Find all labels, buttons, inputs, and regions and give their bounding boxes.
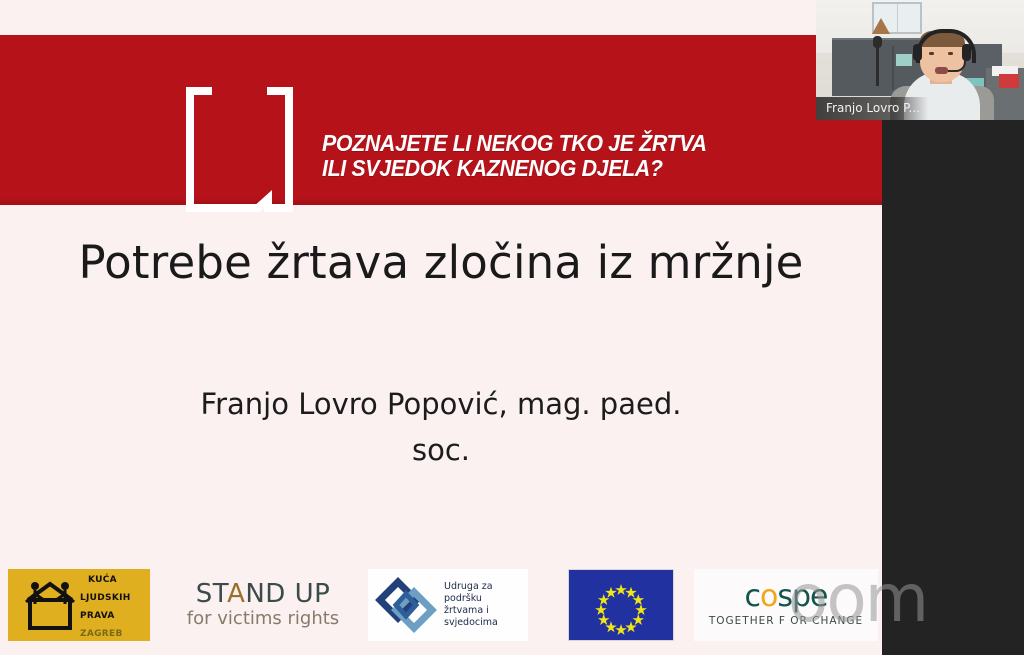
page-title: Potrebe žrtava zločina iz mržnje: [0, 236, 882, 289]
speech-bubble-bracket-icon: [182, 87, 297, 212]
presenter-credit: Franjo Lovro Popović, mag. paed. soc.: [0, 381, 882, 473]
participant-video-thumbnail[interactable]: Franjo Lovro P...: [816, 0, 1024, 120]
logo-kuca-city: ZAGREB: [80, 629, 123, 639]
desk-item-red: [999, 74, 1019, 88]
logo-european-union: [566, 569, 676, 641]
headset-earcup-left: [913, 44, 922, 61]
logo-udruga-za-podrsku: Udruga za podršku žrtvama i svjedocima: [368, 569, 528, 641]
logo-standup-wordmark: STAND UP: [196, 580, 331, 608]
logo-stand-up: STAND UP for victims rights: [178, 569, 348, 641]
desk-item-teal: [896, 54, 912, 66]
logo-cospe-accent-o: o: [760, 579, 777, 614]
logo-kuca-text: KUĆA LJUDSKIH PRAVA: [80, 575, 131, 621]
interlocking-rings-icon: [374, 576, 438, 634]
logo-standup-accent: A: [227, 579, 245, 609]
logo-standup-tagline: for victims rights: [187, 608, 339, 630]
zoom-meeting-window: POZNAJETE LI NEKOG TKO JE ŽRTVA ILI SVJE…: [0, 0, 1024, 655]
microphone-stand: [876, 44, 879, 86]
sponsor-logo-strip: KUĆA LJUDSKIH PRAVA ZAGREB STAND UP for …: [0, 569, 882, 647]
participant-name-label: Franjo Lovro P...: [816, 97, 928, 120]
logo-cospe-part1: c: [745, 579, 761, 614]
logo-standup-part1: ST: [196, 579, 227, 609]
logo-cospe-tagline: TOGETHER F OR CHANGE: [709, 613, 863, 629]
logo-cospe: cospe TOGETHER F OR CHANGE: [694, 569, 878, 641]
house-icon: [20, 578, 80, 632]
logo-kuca-ljudskih-prava: KUĆA LJUDSKIH PRAVA ZAGREB: [8, 569, 150, 641]
logo-cospe-wordmark: cospe: [745, 581, 828, 613]
eu-flag-icon: [568, 569, 674, 641]
logo-standup-part2: ND UP: [245, 579, 330, 609]
logo-udruga-text: Udruga za podršku žrtvama i svjedocima: [444, 581, 528, 629]
slide-banner: POZNAJETE LI NEKOG TKO JE ŽRTVA ILI SVJE…: [0, 35, 882, 205]
person-mouth: [935, 67, 948, 74]
banner-headline: POZNAJETE LI NEKOG TKO JE ŽRTVA ILI SVJE…: [322, 131, 806, 181]
shared-screen-slide: POZNAJETE LI NEKOG TKO JE ŽRTVA ILI SVJE…: [0, 0, 882, 655]
logo-cospe-part2: spe: [777, 579, 827, 614]
